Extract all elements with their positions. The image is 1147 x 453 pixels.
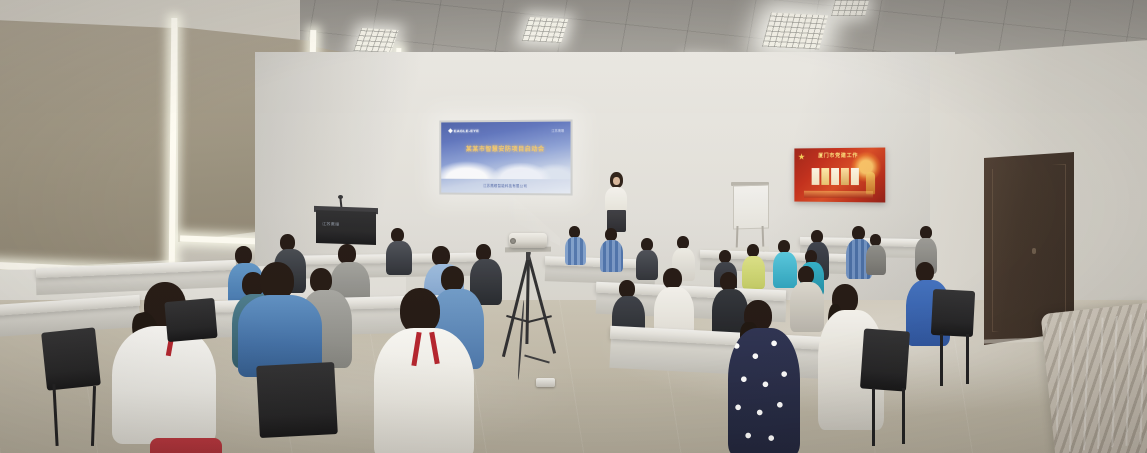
chair [860,328,910,391]
slide-content: EAGLE-EYE 江苏鹰眼 某某市智慧安防项目启动会 江苏鹰眼智能科技有限公司 [441,122,570,194]
banner-base-graphic [804,191,873,199]
classroom-panorama-photo: EAGLE-EYE 江苏鹰眼 某某市智慧安防项目启动会 江苏鹰眼智能科技有限公司… [0,0,1147,453]
chair-leg [902,388,905,444]
banner-panel [821,168,829,185]
chair-leg [872,388,875,446]
banner-panel [841,168,849,185]
banner-panel [812,168,820,185]
chair [931,289,975,337]
banner-title: 厦门市党建工作 [808,152,869,159]
sofa-fabric-folds [1045,313,1147,453]
projector-lens-icon [510,238,516,244]
banner-panels [812,168,859,185]
wall-banner: 厦门市党建工作 [794,148,885,203]
ceiling-light-panel-4 [762,13,828,50]
slide-title: 某某市智慧安防项目启动会 [441,144,570,153]
ceiling-light-panel-2 [522,17,569,43]
presenter-face [613,177,620,185]
slide-logo: EAGLE-EYE [448,128,479,133]
banner-panel [831,168,839,185]
ceiling-light-panel-1 [353,28,398,53]
window-blind-1 [0,20,172,270]
company-logo-icon [448,128,453,133]
star-emblem-icon [798,153,805,160]
slide-background-graphic [441,149,570,179]
chair-leg [940,334,943,386]
chair [256,362,338,438]
red-shorts [150,438,222,453]
chair-leg [966,334,969,384]
slide-footer: 江苏鹰眼智能科技有限公司 [441,183,570,189]
door-handle[interactable] [1032,248,1036,254]
ceiling-light-panel-5 [831,0,869,16]
flipchart-board [733,185,769,230]
chair [164,298,217,342]
power-strip [536,378,555,387]
banner-panel [851,168,859,185]
door-panel [992,164,1066,332]
slide-corner-text: 江苏鹰眼 [551,129,564,133]
projection-screen: EAGLE-EYE 江苏鹰眼 某某市智慧安防项目启动会 江苏鹰眼智能科技有限公司 [439,119,572,195]
chair [41,327,101,390]
slide-logo-text: EAGLE-EYE [454,128,479,133]
